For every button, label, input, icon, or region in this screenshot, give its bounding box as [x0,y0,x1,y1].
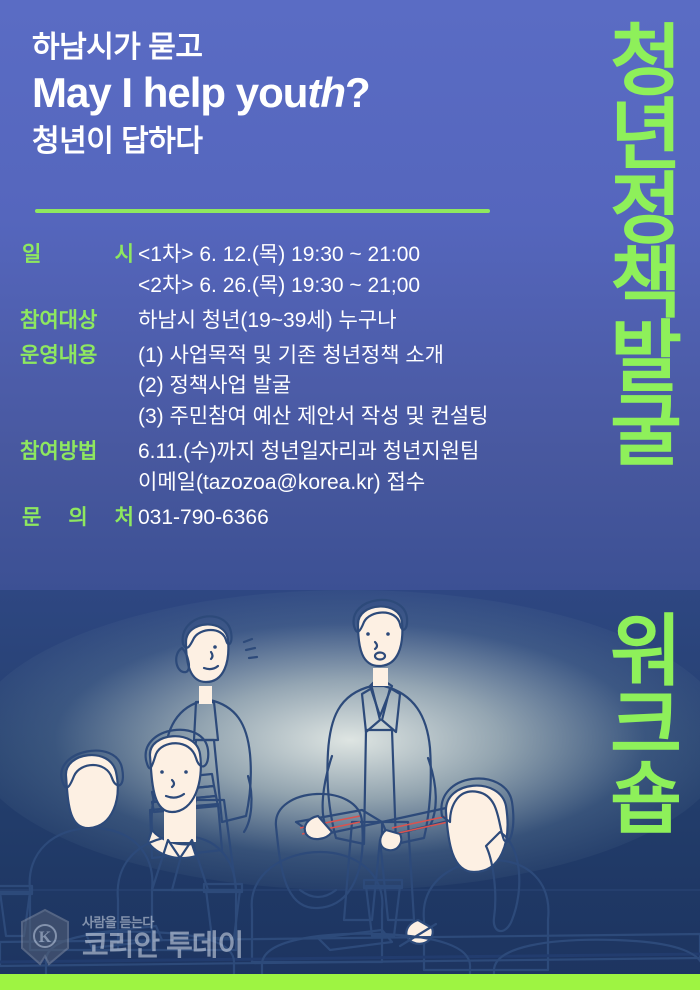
info-row-datetime: 일 시 <1차> 6. 12.(목) 19:30 ~ 21:00 <2차> 6.… [20,240,580,302]
vertical-title-lower: 워 크 숍 [598,614,694,836]
info-row-audience: 참여대상 하남시 청년(19~39세) 누구나 [20,306,580,337]
info-value-phone: 031-790-6366 [138,503,269,534]
label-char: 의 [68,503,87,534]
info-value-group: (1) 사업목적 및 기존 청년정책 소개 (2) 정책사업 발굴 (3) 주민… [138,341,488,434]
info-value: <2차> 6. 26.(목) 19:30 ~ 21;00 [138,271,420,302]
k-mark-letter: K [39,929,52,946]
info-value-group: 6.11.(수)까지 청년일자리과 청년지원팀 이메일(tazozoa@kore… [138,437,479,499]
watermark-name: 코리안 투데이 [82,932,243,961]
figure-seated-woman-right [400,779,548,970]
headline-line-1: 하남시가 묻고 [32,30,552,66]
info-value: 하남시 청년(19~39세) 누구나 [138,306,397,337]
info-label-program: 운영내용 [20,341,138,372]
watermark-tagline: 사람을 듣는다 [82,916,243,929]
headline-italic-th: th [307,69,345,116]
label-char: 처 [115,503,134,534]
headline-question-mark: ? [345,69,370,116]
info-label-datetime: 일 시 [20,240,138,271]
korean-today-k-mark: K [18,908,72,968]
vertical-title-char: 청 [598,24,694,98]
info-label-contact: 문 의 처 [20,503,138,534]
vertical-title-char: 정 [598,172,694,246]
info-row-howtojoin: 참여방법 6.11.(수)까지 청년일자리과 청년지원팀 이메일(tazozoa… [20,437,580,499]
info-block: 일 시 <1차> 6. 12.(목) 19:30 ~ 21:00 <2차> 6.… [20,240,580,538]
poster: .ol{fill:none;stroke:#2d4a7a;stroke-widt… [0,0,700,990]
info-value: (3) 주민참여 예산 제안서 작성 및 컨설팅 [138,402,488,433]
watermark-text: 사람을 듣는다 코리안 투데이 [82,916,243,961]
info-row-contact: 문 의 처 031-790-6366 [20,503,580,534]
figure-standing-man [296,600,452,920]
info-label-howtojoin: 참여방법 [20,437,138,468]
info-value-email: 이메일(tazozoa@korea.kr) 접수 [138,468,479,499]
info-value-group: 하남시 청년(19~39세) 누구나 [138,306,397,337]
vertical-title-char: 발 [598,320,694,394]
vertical-title-char: 숍 [610,755,682,843]
headline-block: 하남시가 묻고 May I help youth? 청년이 답하다 [32,30,552,160]
headline-main-text: May I help you [32,69,307,116]
info-value: 6.11.(수)까지 청년일자리과 청년지원팀 [138,437,479,468]
info-value-group: <1차> 6. 12.(목) 19:30 ~ 21:00 <2차> 6. 26.… [138,240,420,302]
label-char: 시 [115,240,134,271]
info-row-program: 운영내용 (1) 사업목적 및 기존 청년정책 소개 (2) 정책사업 발굴 (… [20,341,580,434]
green-divider-rule [35,209,490,213]
headline-line-2: May I help youth? [32,68,552,118]
label-char: 문 [22,503,41,534]
info-value: <1차> 6. 12.(목) 19:30 ~ 21:00 [138,240,420,271]
vertical-title-char: 년 [598,98,694,172]
info-value: (1) 사업목적 및 기존 청년정책 소개 [138,341,488,372]
bottom-green-bar [0,974,700,990]
info-label-audience: 참여대상 [20,306,138,337]
watermark-logo: K 사람을 듣는다 코리안 투데이 [18,908,243,968]
vertical-title-upper: 청 년 정 책 발 굴 [598,24,694,469]
info-value: (2) 정책사업 발굴 [138,371,488,402]
info-value-group: 031-790-6366 [138,503,269,534]
headline-line-3: 청년이 답하다 [32,124,552,160]
label-char: 일 [22,240,41,271]
vertical-title-char: 굴 [598,394,694,468]
vertical-title-char: 책 [598,246,694,320]
